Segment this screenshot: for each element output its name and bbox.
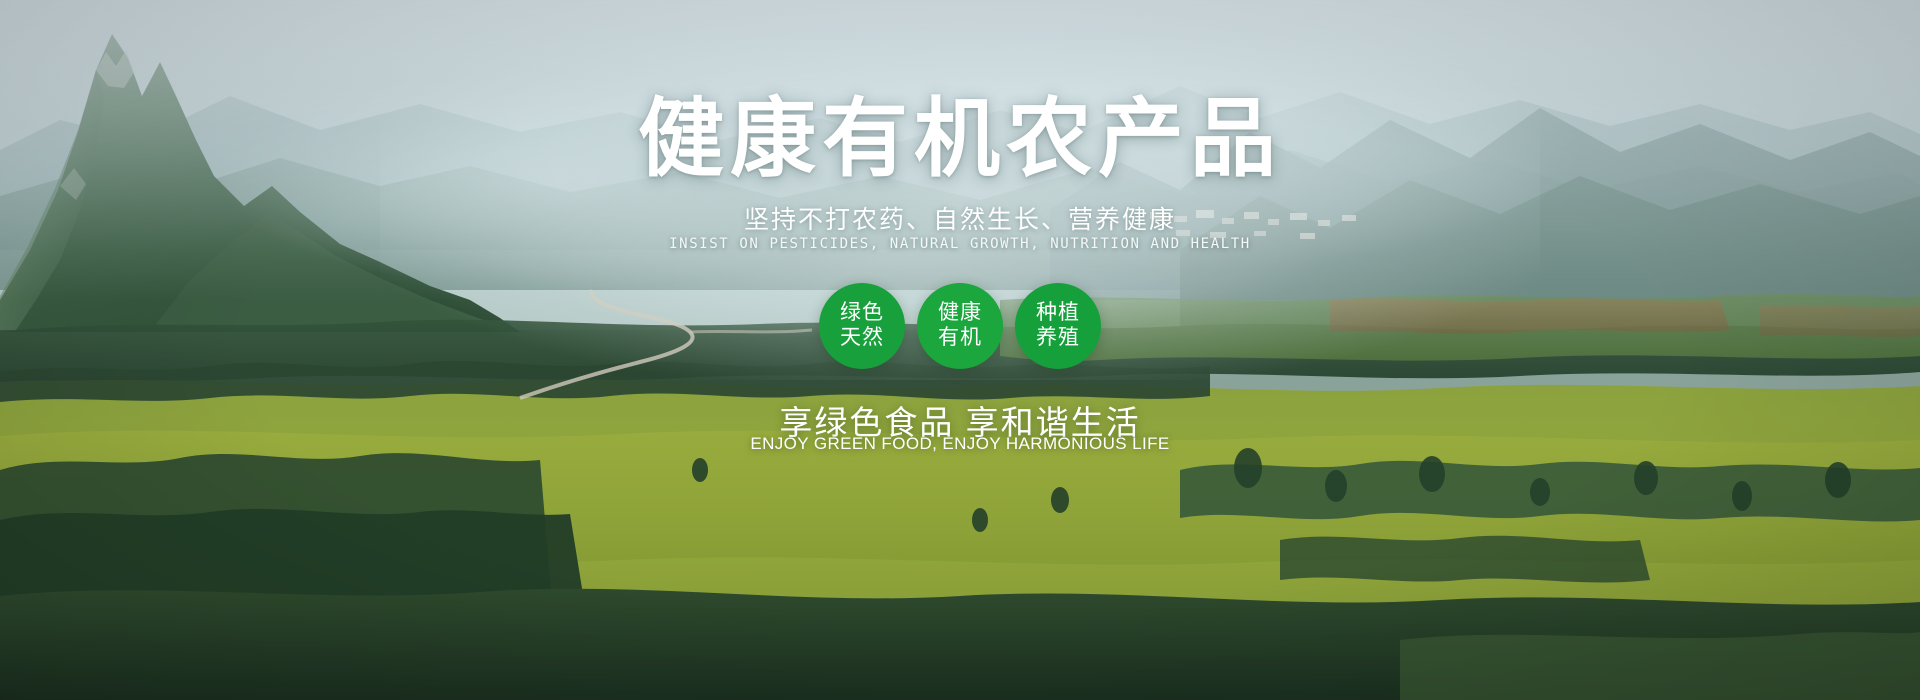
feature-badge-healthy-organic[interactable]: 健康 有机	[917, 283, 1003, 369]
badge-line-2: 有机	[938, 326, 982, 351]
badge-line-2: 天然	[840, 326, 884, 351]
banner-tagline-english: ENJOY GREEN FOOD, ENJOY HARMONIOUS LIFE	[0, 434, 1920, 454]
feature-badge-green-natural[interactable]: 绿色 天然	[819, 283, 905, 369]
feature-badge-group: 绿色 天然 健康 有机 种植 养殖	[0, 283, 1920, 369]
feature-badge-planting-breeding[interactable]: 种植 养殖	[1015, 283, 1101, 369]
badge-line-1: 种植	[1036, 301, 1080, 326]
banner-subtitle-english: INSIST ON PESTICIDES, NATURAL GROWTH, NU…	[0, 236, 1920, 252]
badge-line-1: 健康	[938, 301, 982, 326]
banner-subtitle-chinese: 坚持不打农药、自然生长、营养健康	[0, 200, 1920, 236]
hero-banner: 健康有机农产品 坚持不打农药、自然生长、营养健康 INSIST ON PESTI…	[0, 0, 1920, 700]
banner-content: 健康有机农产品 坚持不打农药、自然生长、营养健康 INSIST ON PESTI…	[0, 0, 1920, 700]
banner-headline: 健康有机农产品	[0, 96, 1920, 182]
badge-line-1: 绿色	[840, 301, 884, 326]
badge-line-2: 养殖	[1036, 326, 1080, 351]
